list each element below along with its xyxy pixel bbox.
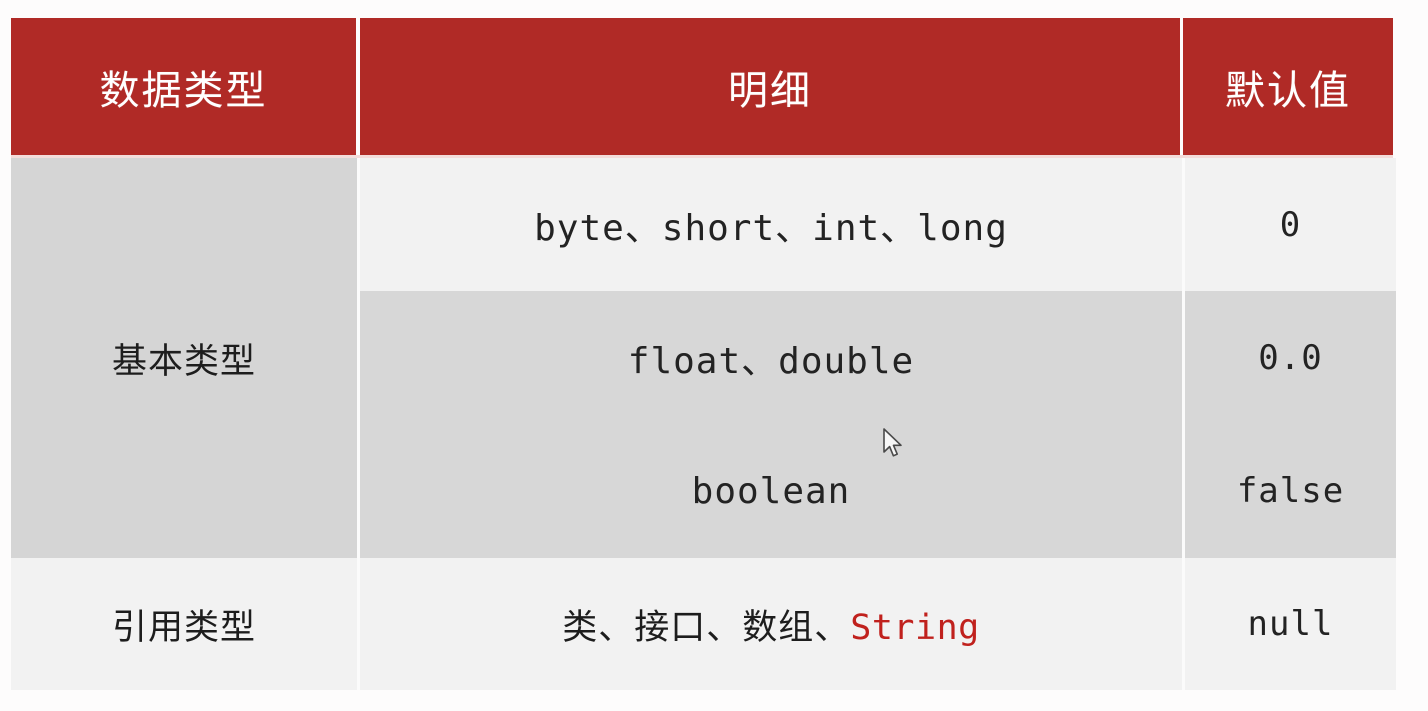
cell-detail: float、double: [360, 291, 1182, 424]
cell-default-value-text: 0: [1280, 205, 1301, 245]
cell-default-value-text: 0.0: [1258, 338, 1322, 378]
column-header-default-value: 默认值: [1183, 18, 1393, 155]
cell-detail: byte、short、int、long: [360, 158, 1182, 291]
cell-default-value-text: false: [1237, 471, 1344, 511]
column-header-detail-label: 明细: [728, 58, 812, 116]
column-header-detail: 明细: [360, 18, 1180, 155]
column-divider-right: [1182, 158, 1185, 690]
cell-default-value: 0.0: [1185, 291, 1396, 424]
table-row: byte、short、int、long 0: [11, 158, 1396, 291]
table-header-row: 数据类型 明细 默认值: [11, 18, 1393, 155]
cell-default-value: 0: [1185, 158, 1396, 291]
table-row: 类、接口、数组、String null: [11, 558, 1396, 690]
table-row: boolean false: [11, 424, 1396, 558]
cell-detail-text: float、double: [628, 332, 914, 384]
cell-default-value-text: null: [1248, 604, 1334, 644]
cell-detail-plain-text: 类、接口、数组、: [562, 608, 850, 647]
column-divider-left: [357, 158, 360, 690]
data-types-table: 数据类型 明细 默认值 基本类型 引用类型 byte、short、int、lon…: [11, 18, 1396, 690]
column-header-data-type: 数据类型: [11, 18, 356, 155]
cell-detail-text: 类、接口、数组、String: [562, 599, 979, 650]
cell-detail: boolean: [360, 424, 1182, 558]
column-header-default-value-label: 默认值: [1225, 58, 1351, 116]
cell-detail-text: boolean: [692, 471, 851, 512]
cell-default-value: null: [1185, 558, 1396, 690]
cell-detail: 类、接口、数组、String: [360, 558, 1182, 690]
cell-default-value: false: [1185, 424, 1396, 558]
slide-canvas: 数据类型 明细 默认值 基本类型 引用类型 byte、short、int、lon…: [0, 0, 1428, 711]
cell-detail-accent-text: String: [850, 608, 979, 648]
cell-detail-text: byte、short、int、long: [534, 199, 1008, 251]
table-row: float、double 0.0: [11, 291, 1396, 424]
column-header-data-type-label: 数据类型: [100, 58, 268, 116]
